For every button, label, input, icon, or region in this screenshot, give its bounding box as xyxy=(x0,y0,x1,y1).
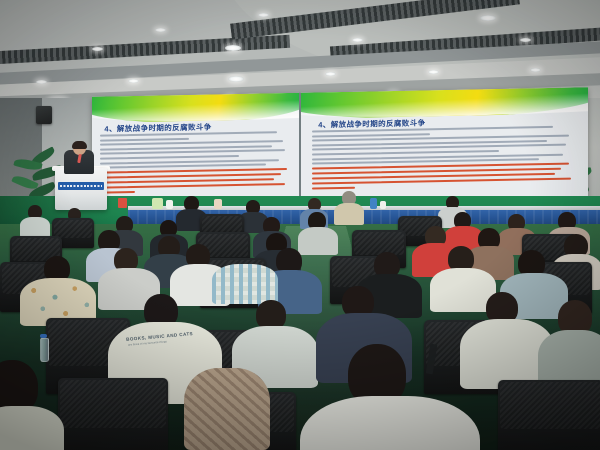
water-bottle xyxy=(40,338,49,362)
screen-panel-left: 4、解放战争时期的反腐败斗争 xyxy=(92,93,299,209)
downlight-icon xyxy=(520,38,531,42)
seat[interactable] xyxy=(498,380,600,450)
table-item-sign xyxy=(118,198,127,208)
slide-header-banner-right xyxy=(301,87,588,119)
table-item-cup xyxy=(380,201,386,209)
podium-sign xyxy=(58,182,104,190)
downlight-icon xyxy=(480,15,496,21)
downlight-icon xyxy=(128,79,139,83)
wall-speaker-icon xyxy=(36,106,52,124)
table-item-box xyxy=(214,199,222,209)
bottle-cap xyxy=(40,334,47,338)
downlight-icon xyxy=(92,47,103,51)
presenter-hair xyxy=(72,141,87,149)
slide-body-right xyxy=(312,125,579,192)
conference-hall-photo: 4、解放战争时期的反腐败斗争 4、解放战争时期的反腐败斗争 xyxy=(0,0,600,450)
table-item-plant xyxy=(152,198,163,209)
downlight-icon xyxy=(36,80,47,84)
downlight-icon xyxy=(225,45,241,51)
led-screen-wall: 4、解放战争时期的反腐败斗争 4、解放战争时期的反腐败斗争 xyxy=(92,87,588,209)
screen-panel-right: 4、解放战争时期的反腐败斗争 xyxy=(301,87,588,205)
slide-body-left xyxy=(100,131,293,196)
table-item-bottle xyxy=(370,198,377,209)
downlight-icon xyxy=(228,76,244,82)
slide-header-banner-left xyxy=(92,93,299,123)
downlight-icon xyxy=(155,28,166,32)
downlight-icon xyxy=(352,38,363,42)
downlight-icon xyxy=(530,68,541,72)
downlight-icon xyxy=(258,13,269,17)
downlight-icon xyxy=(325,72,336,76)
table-item-cup xyxy=(166,200,173,209)
screen-panel-seam xyxy=(299,93,301,205)
seat[interactable] xyxy=(58,378,168,450)
downlight-icon xyxy=(428,70,439,74)
